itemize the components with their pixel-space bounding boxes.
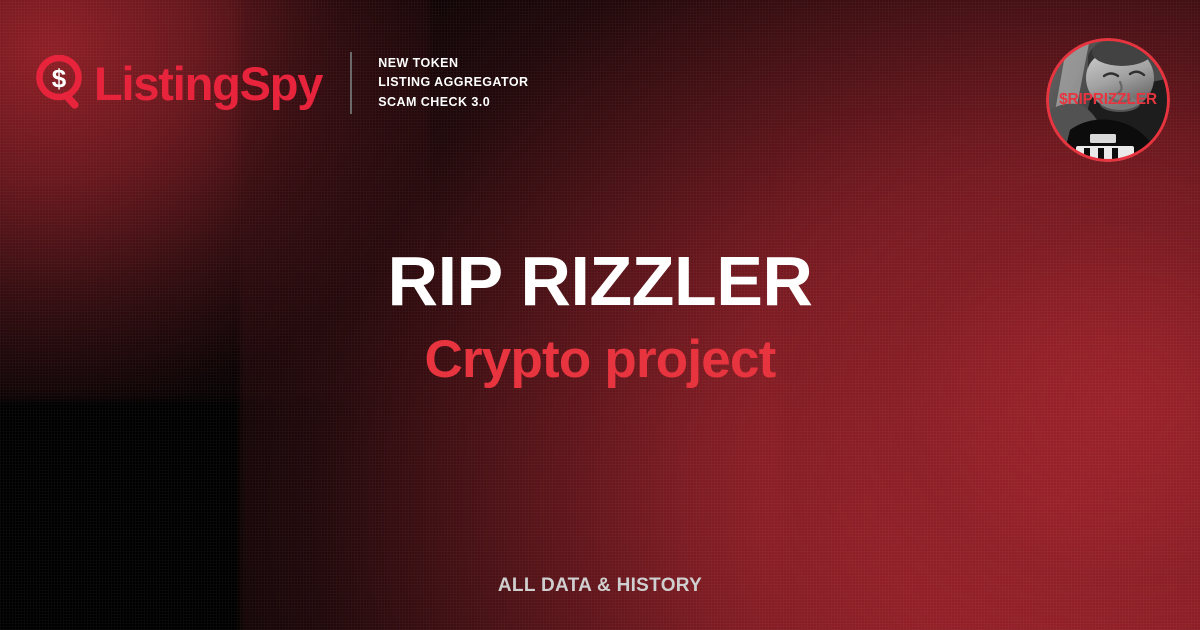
- brand-name: ListingSpy: [94, 60, 322, 107]
- brand-header: $ ListingSpy NEW TOKEN LISTING AGGREGATO…: [36, 52, 528, 114]
- footer-text: ALL DATA & HISTORY: [498, 575, 702, 596]
- magnifier-dollar-icon: $: [36, 55, 88, 111]
- tagline-line-1: NEW TOKEN: [378, 54, 528, 73]
- tagline-line-3: SCAM CHECK 3.0: [378, 93, 528, 112]
- footer: ALL DATA & HISTORY: [0, 575, 1200, 597]
- avatar[interactable]: $RIPRIZZLER: [1046, 38, 1170, 162]
- tagline-line-2: LISTING AGGREGATOR: [378, 73, 528, 92]
- page-title: RIP RIZZLER: [0, 246, 1200, 317]
- main-heading-block: RIP RIZZLER Crypto project: [0, 246, 1200, 390]
- page-subtitle: Crypto project: [0, 331, 1200, 389]
- brand-tagline: NEW TOKEN LISTING AGGREGATOR SCAM CHECK …: [378, 54, 528, 112]
- banner-canvas: $ ListingSpy NEW TOKEN LISTING AGGREGATO…: [0, 0, 1200, 630]
- avatar-overlay-label: $RIPRIZZLER: [1046, 91, 1170, 109]
- header-divider: [350, 52, 352, 114]
- svg-text:$: $: [52, 64, 67, 94]
